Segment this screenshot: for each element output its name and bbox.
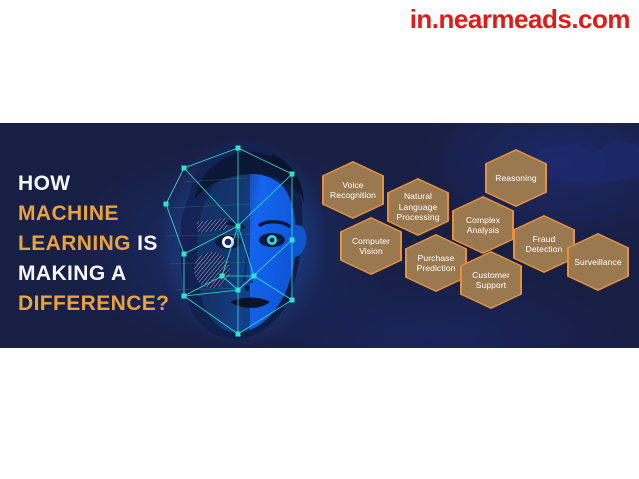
hex-text-line-1: Natural — [404, 191, 432, 201]
hexagon-fraud-detection[interactable]: Fraud Detection — [513, 215, 575, 273]
hex-text-line-1: Voice — [342, 180, 363, 190]
hexagon-customer-support[interactable]: Customer Support — [460, 251, 522, 309]
hex-text-line-1: Purchase — [418, 253, 455, 263]
hex-text-line-2: Support — [476, 280, 506, 290]
hexagon-purchase-prediction[interactable]: Purchase Prediction — [405, 234, 467, 292]
hexagon-voice-recognition[interactable]: Voice Recognition — [322, 161, 384, 219]
hexagon-label-fraud-detection: Fraud Detection — [515, 234, 573, 255]
hex-text-line-2: Analysis — [467, 225, 499, 235]
hex-text-line-2: Vision — [359, 246, 383, 256]
hex-text-line-2: Language — [399, 202, 438, 212]
promo-banner: HOW MACHINE LEARNING IS MAKING A DIFFERE… — [0, 123, 639, 348]
hex-text-line-1: Fraud — [533, 234, 556, 244]
hexagon-label-purchase-prediction: Purchase Prediction — [407, 253, 465, 274]
hexagon-natural-language-processing[interactable]: Natural Language Processing — [387, 178, 449, 236]
hexagon-label-complex-analysis: Complex Analysis — [454, 215, 512, 236]
hex-text-line-3: Processing — [396, 212, 439, 222]
headline-line-1: HOW — [18, 169, 169, 199]
hex-text-line-2: Detection — [526, 244, 563, 254]
headline-word-machine: MACHINE — [18, 202, 119, 225]
hexagon-computer-vision[interactable]: Computer Vision — [340, 217, 402, 275]
hexagon-label-voice-recognition: Voice Recognition — [324, 180, 382, 201]
hexagon-surveillance[interactable]: Surveillance — [567, 233, 629, 291]
headline-line-5: DIFFERENCE? — [18, 289, 169, 319]
headline-line-3: LEARNING IS — [18, 229, 169, 259]
hex-text-line-1: Reasoning — [495, 173, 537, 183]
facial-recognition-illustration — [150, 130, 325, 348]
hex-text-line-1: Customer — [472, 270, 510, 280]
hex-text-line-1: Complex — [466, 215, 500, 225]
hex-text-line-2: Recognition — [330, 190, 376, 200]
hexagon-label-surveillance: Surveillance — [569, 257, 627, 268]
site-watermark: in.nearmeads.com — [410, 6, 630, 32]
headline-word-learning: LEARNING — [18, 232, 131, 255]
headline-word-making-a: MAKING A — [18, 262, 127, 285]
headline-word-how: HOW — [18, 172, 71, 195]
headline-line-4: MAKING A — [18, 259, 169, 289]
hexagon-label-customer-support: Customer Support — [462, 270, 520, 291]
hexagon-label-natural-language-processing: Natural Language Processing — [389, 191, 447, 223]
hex-text-line-2: Prediction — [417, 263, 456, 273]
headline-word-difference: DIFFERENCE? — [18, 292, 169, 315]
hexagon-label-computer-vision: Computer Vision — [342, 236, 400, 257]
ml-application-hexagon-cluster: Voice Recognition Natural Language Proce… — [315, 161, 639, 341]
hex-text-line-1: Surveillance — [574, 257, 622, 267]
hex-text-line-1: Computer — [352, 236, 390, 246]
hexagon-complex-analysis[interactable]: Complex Analysis — [452, 196, 514, 254]
banner-headline: HOW MACHINE LEARNING IS MAKING A DIFFERE… — [18, 169, 169, 319]
headline-line-2: MACHINE — [18, 199, 169, 229]
hexagon-label-reasoning: Reasoning — [487, 173, 545, 184]
